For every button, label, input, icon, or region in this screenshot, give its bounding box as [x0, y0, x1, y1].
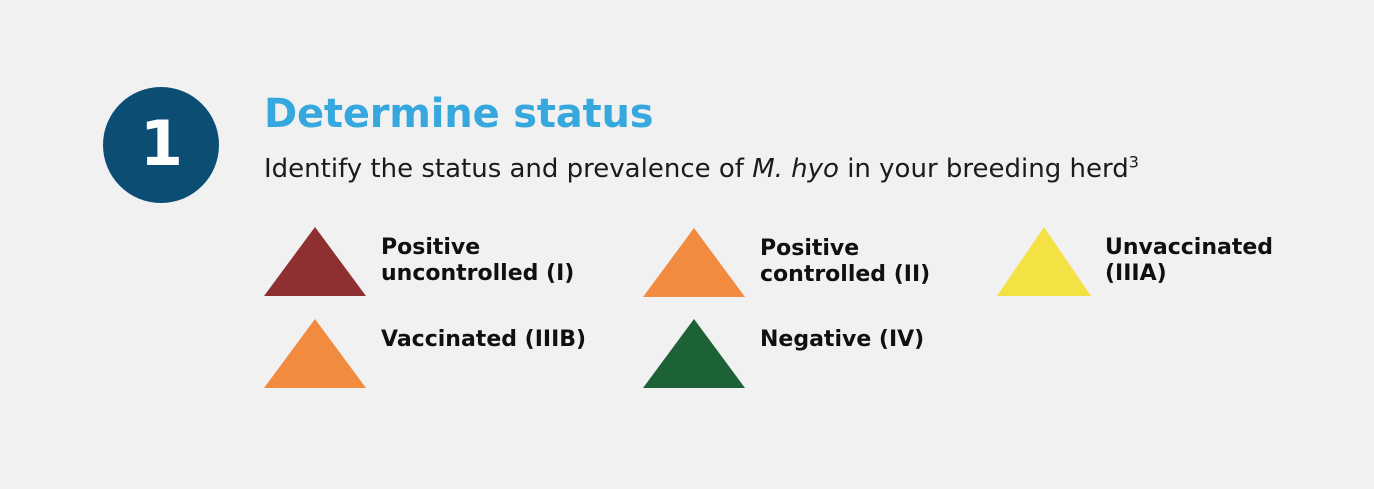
infographic-step-panel: 1 Determine status Identify the status a…	[0, 0, 1374, 489]
legend-label-vaccinated: Vaccinated (IIIB)	[381, 319, 586, 353]
legend-label-negative: Negative (IV)	[760, 319, 924, 353]
legend-item-positive-controlled: Positive controlled (II)	[643, 228, 930, 297]
legend-item-unvaccinated: Unvaccinated (IIIA)	[997, 227, 1273, 296]
triangle-icon-unvaccinated	[997, 227, 1091, 296]
triangle-icon-vaccinated	[264, 319, 366, 388]
legend-label-unvaccinated: Unvaccinated (IIIA)	[1105, 227, 1273, 287]
legend-label-positive-controlled: Positive controlled (II)	[760, 228, 930, 288]
triangle-icon-negative	[643, 319, 745, 388]
legend-label-positive-uncontrolled: Positive uncontrolled (I)	[381, 227, 574, 287]
status-legend: Positive uncontrolled (I) Positive contr…	[0, 0, 1374, 489]
legend-item-positive-uncontrolled: Positive uncontrolled (I)	[264, 227, 574, 296]
legend-item-vaccinated: Vaccinated (IIIB)	[264, 319, 586, 388]
triangle-icon-positive-controlled	[643, 228, 745, 297]
legend-item-negative: Negative (IV)	[643, 319, 924, 388]
triangle-icon-positive-uncontrolled	[264, 227, 366, 296]
